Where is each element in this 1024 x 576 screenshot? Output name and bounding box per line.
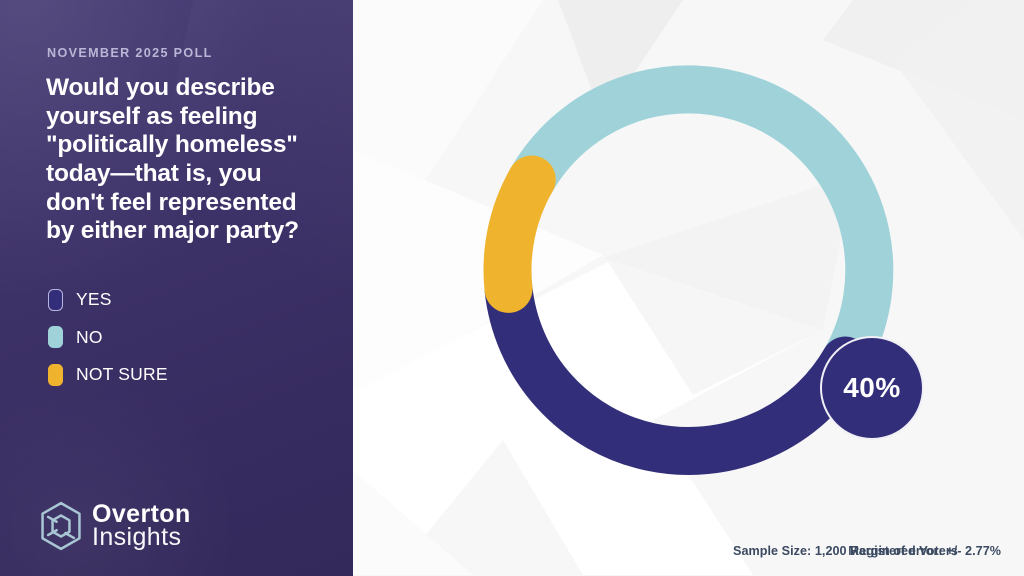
legend-item-label: YES [76, 289, 112, 310]
brand-name-line2: Insights [92, 526, 191, 549]
brand-logo[interactable]: Overton Insights [36, 500, 191, 552]
donut-segment-yes[interactable] [508, 289, 845, 451]
legend-item-yes[interactable]: YES [48, 281, 168, 319]
hexagon-logo-icon [36, 500, 86, 552]
brand-wordmark: Overton Insights [92, 503, 191, 550]
legend-swatch-icon [48, 364, 63, 386]
percent-bubble-yes[interactable]: 40% [820, 336, 924, 440]
donut-chart [353, 0, 1024, 576]
donut-segment-not-sure[interactable] [507, 180, 531, 289]
poll-date-eyebrow: NOVEMBER 2025 POLL [47, 46, 213, 60]
legend-swatch-icon [48, 289, 63, 311]
legend-item-not-sure[interactable]: NOT SURE [48, 356, 168, 394]
poll-question-headline: Would you describe yourself as feeling "… [46, 74, 312, 246]
poll-infographic: NOVEMBER 2025 POLL Would you describe yo… [0, 0, 1024, 576]
legend-item-label: NOT SURE [76, 364, 168, 385]
question-panel: NOVEMBER 2025 POLL Would you describe yo… [0, 0, 353, 576]
donut-segment-no[interactable] [532, 89, 870, 360]
chart-legend: YES NO NOT SURE [48, 281, 168, 394]
legend-item-label: NO [76, 327, 103, 348]
legend-swatch-icon [48, 326, 63, 348]
chart-panel: 50% 40% 10% Sample Size: 1,200 Registere… [353, 0, 1024, 576]
margin-of-error-note: Margin of error: +/- 2.77% [848, 544, 1001, 558]
legend-item-no[interactable]: NO [48, 319, 168, 357]
